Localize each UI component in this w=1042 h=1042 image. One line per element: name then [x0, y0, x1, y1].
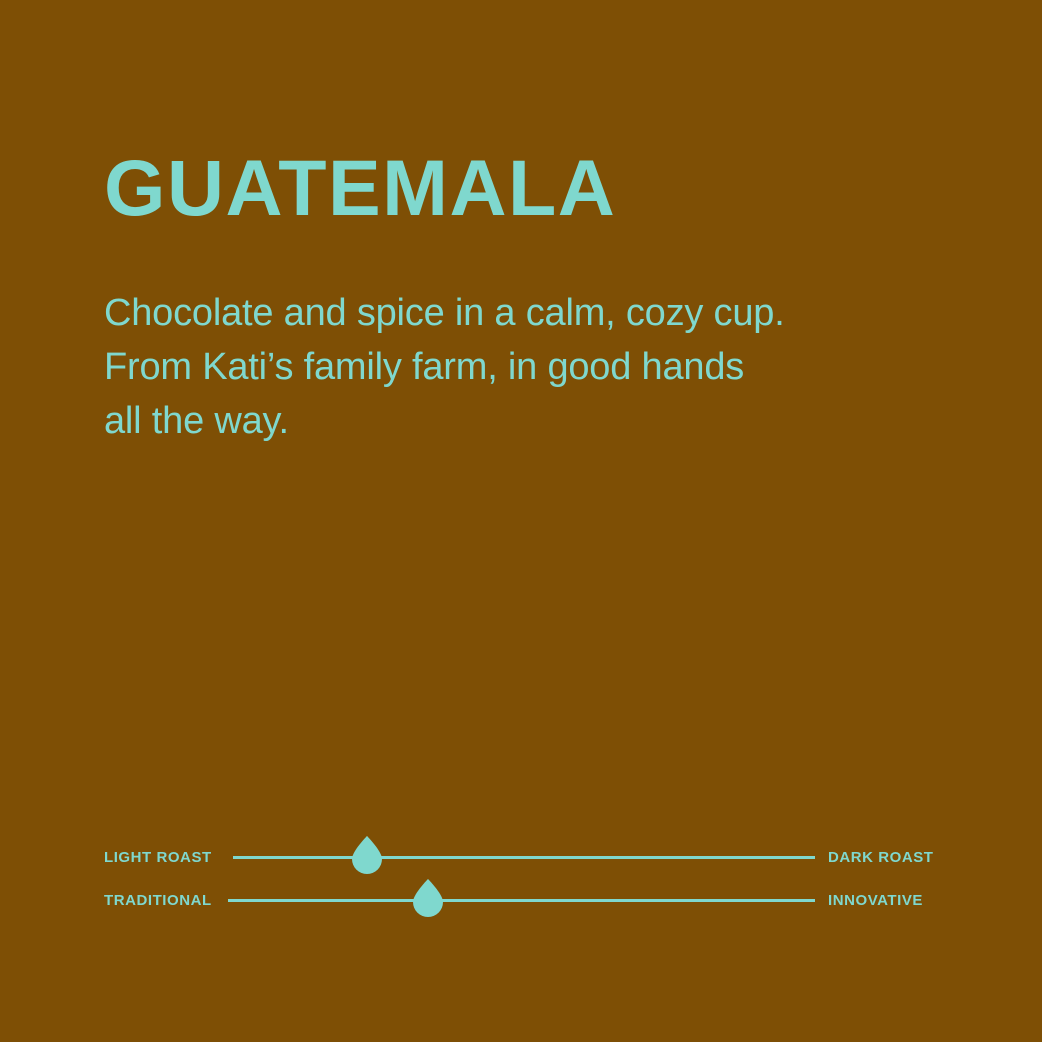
slider-roast-track-area[interactable]	[233, 836, 815, 879]
slider-roast-left-label: LIGHT ROAST	[104, 850, 220, 865]
slider-style-left-label: TRADITIONAL	[104, 893, 220, 908]
page-title: GUATEMALA	[104, 148, 616, 227]
product-description: Chocolate and spice in a calm, cozy cup.…	[104, 286, 904, 448]
droplet-handle-icon	[413, 879, 443, 917]
attribute-sliders: LIGHT ROAST DARK ROAST TRADITIONAL	[104, 836, 938, 922]
droplet-handle-icon	[352, 836, 382, 874]
slider-roast-track	[233, 856, 815, 859]
description-line-1: Chocolate and spice in a calm, cozy cup.	[104, 286, 904, 340]
slider-style-track-area[interactable]	[228, 879, 815, 922]
slider-style-track	[228, 899, 815, 902]
description-line-3: all the way.	[104, 394, 904, 448]
slider-style-right-label: INNOVATIVE	[828, 893, 923, 908]
description-line-2: From Kati’s family farm, in good hands	[104, 340, 904, 394]
slider-style-handle[interactable]	[413, 879, 443, 917]
slider-row-roast: LIGHT ROAST DARK ROAST	[104, 836, 938, 879]
slider-row-style: TRADITIONAL INNOVATIVE	[104, 879, 938, 922]
slider-roast-right-label: DARK ROAST	[828, 850, 934, 865]
coffee-product-card: GUATEMALA Chocolate and spice in a calm,…	[0, 0, 1042, 1042]
slider-roast-handle[interactable]	[352, 836, 382, 874]
